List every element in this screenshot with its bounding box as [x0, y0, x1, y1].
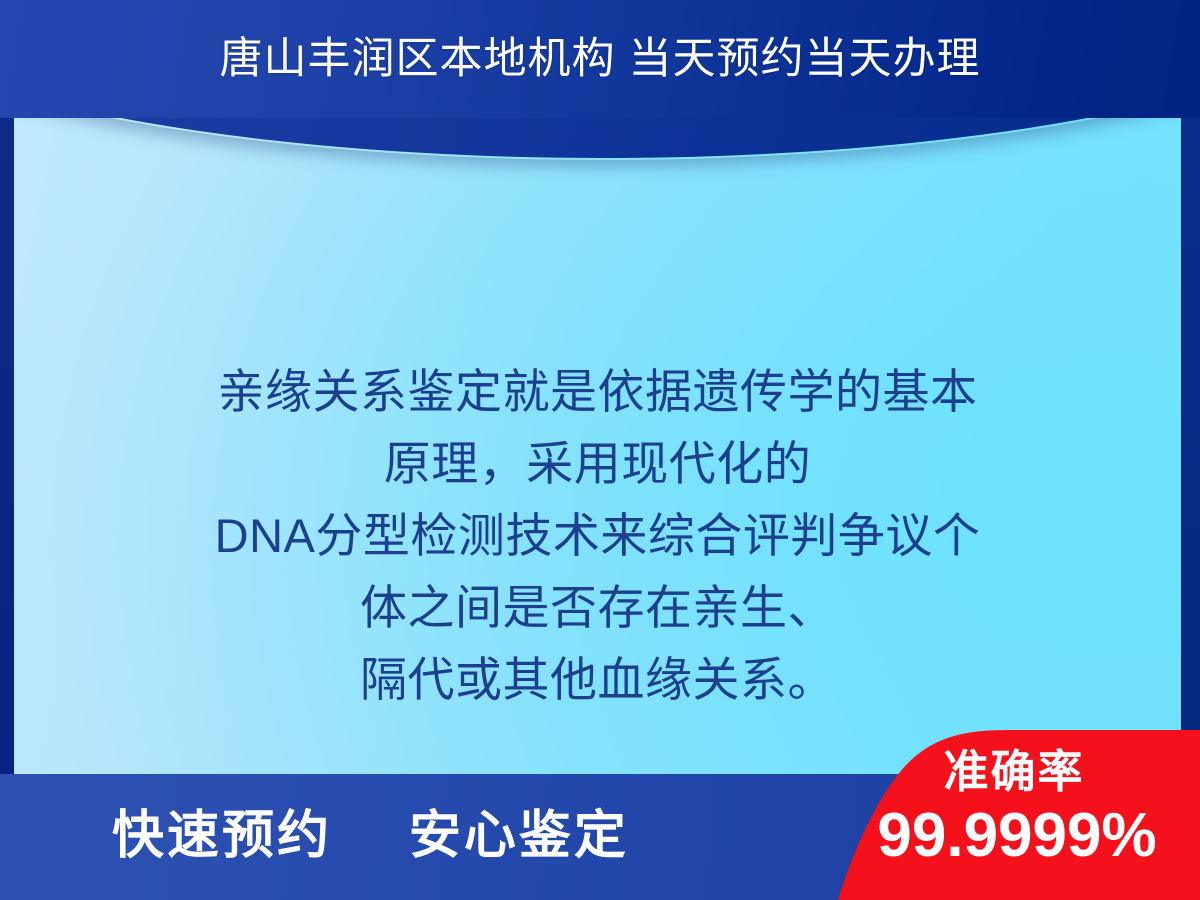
header-title: 唐山丰润区本地机构 当天预约当天办理: [220, 38, 981, 81]
body-line-1: 亲缘关系鉴定就是依据遗传学的基本: [14, 356, 1181, 428]
bottom-tagline-left: 快速预约: [112, 807, 332, 865]
accuracy-value: 99.9999%: [838, 800, 1196, 872]
right-edge-strip: [1181, 118, 1200, 774]
body-line-5: 隔代或其他血缘关系。: [14, 644, 1181, 716]
body-line-3: DNA分型检测技术来综合评判争议个: [14, 500, 1181, 572]
body-line-4: 体之间是否存在亲生、: [14, 572, 1181, 644]
header-banner: 唐山丰润区本地机构 当天预约当天办理: [0, 0, 1200, 118]
poster-root: 唐山丰润区本地机构 当天预约当天办理 亲缘关系鉴定就是依据遗传学的基本 原理，采…: [0, 0, 1200, 900]
body-copy: 亲缘关系鉴定就是依据遗传学的基本 原理，采用现代化的 DNA分型检测技术来综合评…: [14, 356, 1181, 716]
left-edge-strip: [0, 118, 14, 774]
bottom-tagline: 快速预约 安心鉴定: [112, 800, 629, 872]
content-card: 亲缘关系鉴定就是依据遗传学的基本 原理，采用现代化的 DNA分型检测技术来综合评…: [14, 118, 1181, 774]
body-line-2: 原理，采用现代化的: [14, 428, 1181, 500]
bottom-tagline-right: 安心鉴定: [409, 807, 629, 865]
